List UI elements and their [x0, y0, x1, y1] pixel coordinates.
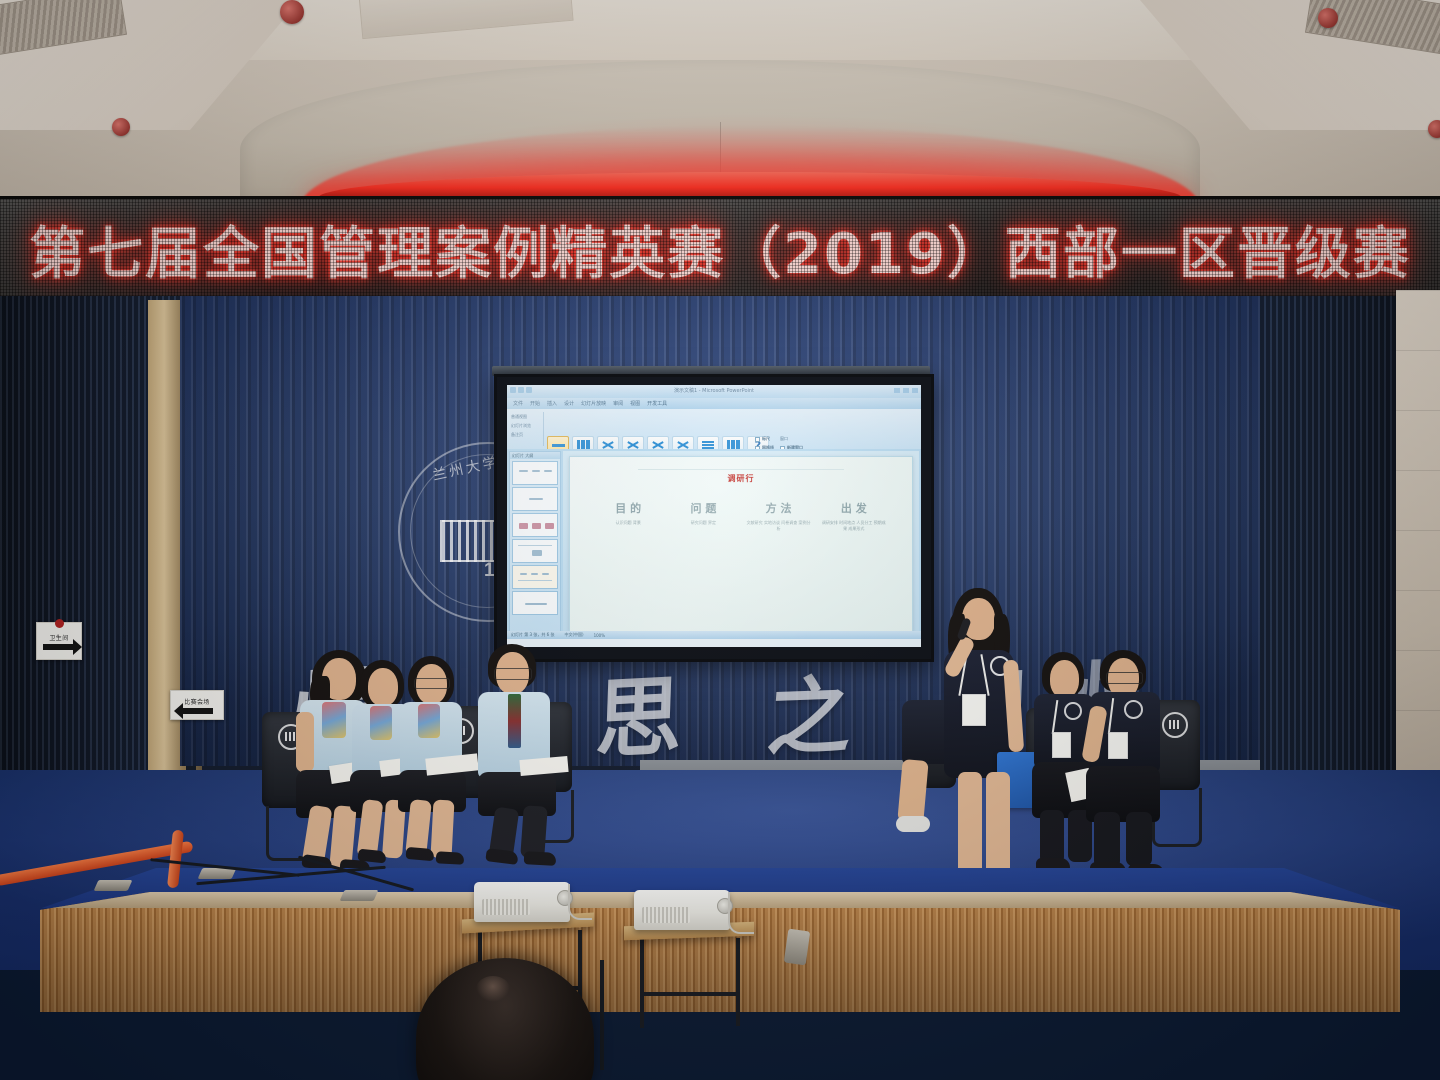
powerpoint-status-bar: 幻灯片 第 3 张，共 6 张 中文(中国) 100% [507, 631, 921, 639]
quick-access-toolbar[interactable] [510, 387, 532, 393]
floor-box [94, 880, 133, 891]
tab-home[interactable]: 开始 [530, 400, 540, 407]
slide-column: 目 的 认识问题 背景 [595, 503, 661, 533]
table-crossbar [640, 992, 740, 996]
badge [1052, 732, 1071, 758]
powerpoint-window-title: 演示文稿1 - Microsoft PowerPoint [674, 387, 754, 394]
undo-icon[interactable] [518, 387, 524, 393]
sneaker [896, 816, 930, 832]
neck-scarf [370, 706, 392, 740]
slide-column: 问 题 研究问题 界定 [670, 503, 736, 533]
projection-screen: 演示文稿1 - Microsoft PowerPoint 文件 开始 插入 设计… [507, 385, 921, 647]
projector-vent-icon [482, 899, 530, 915]
slide-column-body: 认识问题 背景 [595, 520, 661, 526]
ribbon-tabs[interactable]: 文件 开始 插入 设计 幻灯片放映 审阅 视图 开发工具 [507, 398, 921, 409]
checkbox-ruler[interactable]: 标尺 [755, 436, 774, 442]
powerpoint-window[interactable]: 演示文稿1 - Microsoft PowerPoint 文件 开始 插入 设计… [507, 385, 921, 647]
window-group-label: 窗口 [780, 436, 803, 442]
neck-scarf [322, 702, 346, 738]
wayfinding-sign-venue: 比赛会场 [170, 690, 224, 720]
tab-view[interactable]: 视图 [630, 400, 640, 407]
floor-box [340, 890, 379, 901]
slide-thumbnail[interactable] [512, 513, 558, 537]
slide-column-body: 调研安排 时间地点 人员分工 预期成果 成果形式 [821, 520, 887, 532]
status-slide-number: 幻灯片 第 3 张，共 6 张 [511, 632, 554, 638]
table-leg [736, 938, 740, 1026]
slide-column-heading: 出 发 [821, 503, 887, 515]
tab-insert[interactable]: 插入 [547, 400, 557, 407]
sign-pin-icon [55, 619, 64, 628]
slide-divider [638, 469, 843, 470]
neck-scarf [418, 704, 440, 738]
smoke-detector-icon [1428, 120, 1440, 138]
eyeglasses-icon [1106, 672, 1143, 684]
projector-cable [568, 884, 592, 920]
slide-column-heading: 目 的 [595, 503, 661, 515]
slide-editing-area[interactable]: 调研行 目 的 认识问题 背景 问 题 研究问题 界定 [563, 451, 919, 637]
sign-label: 比赛会场 [184, 697, 210, 706]
projector-cable [728, 892, 754, 934]
projection-screen-frame: 演示文稿1 - Microsoft PowerPoint 文件 开始 插入 设计… [494, 374, 934, 662]
slide-thumbnail[interactable] [512, 565, 558, 589]
checkbox-ruler-label: 标尺 [762, 436, 770, 442]
projector [474, 882, 570, 922]
necktie [508, 694, 521, 748]
powerpoint-body: 幻灯片 大纲 [507, 449, 921, 639]
skirt [398, 770, 466, 812]
slide-thumbnail[interactable] [512, 539, 558, 563]
slide-column: 出 发 调研安排 时间地点 人员分工 预期成果 成果形式 [821, 503, 887, 533]
tab-slideshow[interactable]: 幻灯片放映 [581, 400, 606, 407]
led-banner-text: 第七届全国管理案例精英赛（2019）西部一区晋级赛 [0, 199, 1440, 299]
close-icon[interactable] [912, 388, 918, 393]
uniform-logo-icon [1124, 700, 1143, 719]
window-controls[interactable] [894, 388, 918, 393]
save-icon[interactable] [510, 387, 516, 393]
sign-label: 卫生间 [49, 633, 68, 642]
slide-columns: 目 的 认识问题 背景 问 题 研究问题 界定 方 法 文献研究 实地访谈 问卷… [591, 503, 892, 533]
chair-emblem-icon [1162, 712, 1188, 738]
current-slide[interactable]: 调研行 目 的 认识问题 背景 问 题 研究问题 界定 [569, 456, 913, 633]
arrow-left-icon [181, 708, 213, 714]
cable [600, 960, 604, 1070]
ribbon-label-sorter[interactable]: 幻灯片浏览 [511, 423, 531, 429]
slide-thumbnail[interactable] [512, 487, 558, 511]
conference-hall-photo: 第七届全国管理案例精英赛（2019）西部一区晋级赛 1909 兰州大学 慎 思 … [0, 0, 1440, 1080]
slide-column-heading: 方 法 [746, 503, 812, 515]
redo-icon[interactable] [526, 387, 532, 393]
slide-thumbnail-panel[interactable]: 幻灯片 大纲 [509, 451, 561, 637]
tab-developer[interactable]: 开发工具 [647, 400, 667, 407]
hanging-bracket [784, 929, 811, 966]
slide-column-body: 文献研究 实地访谈 问卷调查 案例分析 [746, 520, 812, 532]
slide-thumbnail[interactable] [512, 591, 558, 615]
maximize-icon[interactable] [903, 388, 909, 393]
status-language: 中文(中国) [564, 632, 583, 638]
badge [1108, 732, 1128, 759]
tab-file[interactable]: 文件 [513, 400, 523, 407]
ribbon[interactable]: 普通视图 幻灯片浏览 备注页 ? [507, 409, 921, 450]
projector [634, 890, 730, 930]
slide-thumbnail[interactable] [512, 461, 558, 485]
ribbon-label-normal[interactable]: 普通视图 [511, 414, 527, 420]
uniform-logo-icon [1064, 702, 1082, 720]
table-leg [640, 936, 644, 1028]
wayfinding-sign-restroom: 卫生间 [36, 622, 82, 660]
smoke-detector-icon [280, 0, 304, 24]
slide-column-body: 研究问题 界定 [670, 520, 736, 526]
eyeglasses-icon [494, 668, 532, 680]
smoke-detector-icon [112, 118, 130, 136]
tab-design[interactable]: 设计 [564, 400, 574, 407]
slide-title: 调研行 [570, 473, 912, 484]
ribbon-group-presentation-views: 普通视图 幻灯片浏览 备注页 [509, 412, 544, 446]
ribbon-label-notes[interactable]: 备注页 [511, 432, 523, 438]
powerpoint-titlebar: 演示文稿1 - Microsoft PowerPoint [507, 385, 921, 399]
status-zoom-level[interactable]: 100% [594, 633, 605, 638]
tab-review[interactable]: 审阅 [613, 400, 623, 407]
smoke-detector-icon [1318, 8, 1338, 28]
slide-column-heading: 问 题 [670, 503, 736, 515]
slide-column: 方 法 文献研究 实地访谈 问卷调查 案例分析 [746, 503, 812, 533]
orange-cable-cover [0, 836, 224, 886]
badge [962, 694, 986, 726]
arrow-right-icon [43, 644, 75, 650]
eyeglasses-icon [414, 678, 450, 689]
projector-vent-icon [642, 907, 690, 923]
hair-whorl [476, 976, 510, 1002]
led-banner: 第七届全国管理案例精英赛（2019）西部一区晋级赛 [0, 196, 1440, 303]
thumbnail-panel-header: 幻灯片 大纲 [510, 452, 560, 459]
minimize-icon[interactable] [894, 388, 900, 393]
